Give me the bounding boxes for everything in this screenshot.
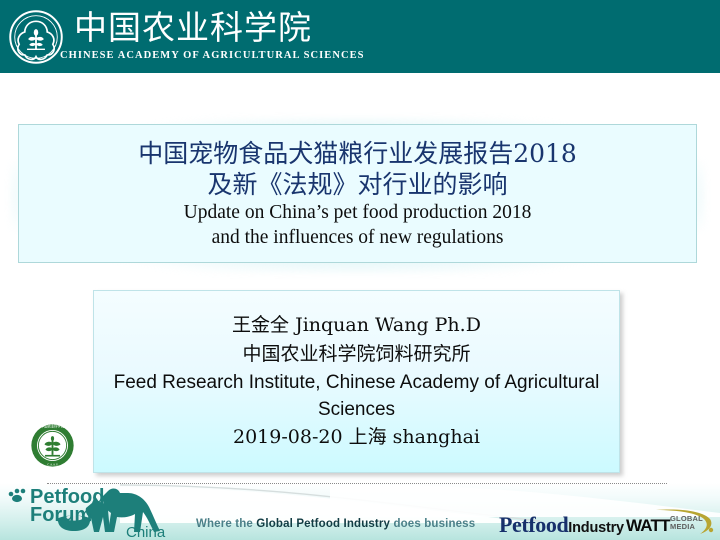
title-en-line-1: Update on China’s pet food production 20… bbox=[184, 200, 532, 225]
caas-seal-icon: 中国农业科学院 C.A.A.S bbox=[29, 422, 76, 469]
title-en-line-2: and the influences of new regulations bbox=[212, 225, 504, 250]
institute-en-line: Feed Research Institute, Chinese Academy… bbox=[108, 369, 605, 423]
date-location-line: 2019-08-20 上海 shanghai bbox=[233, 423, 480, 452]
watt-wordmark: WATT bbox=[626, 516, 670, 536]
header-banner: 中国农业科学院 CHINESE ACADEMY OF AGRICULTURAL … bbox=[0, 0, 720, 73]
title-cn-line-1: 中国宠物食品犬猫粮行业发展报告2018 bbox=[138, 138, 577, 169]
svg-text:C.A.A.S: C.A.A.S bbox=[47, 463, 58, 467]
petfood-industry-logo: PetfoodIndustry bbox=[499, 512, 624, 536]
tagline-prefix: Where the bbox=[196, 518, 256, 530]
caas-seal-icon bbox=[8, 9, 64, 65]
industry-logo-primary: Petfood bbox=[499, 512, 568, 537]
author-panel: 王金全 Jinquan Wang Ph.D 中国农业科学院饲料研究所 Feed … bbox=[93, 290, 620, 473]
petfood-forum-china-logo: Petfood Forum China bbox=[4, 485, 186, 540]
tagline-suffix: does business bbox=[390, 518, 475, 530]
industry-logo-secondary: Industry bbox=[568, 520, 624, 536]
title-panel: 中国宠物食品犬猫粮行业发展报告2018 及新《法规》对行业的影响 Update … bbox=[18, 124, 697, 263]
tagline-strong: Global Petfood Industry bbox=[256, 518, 390, 530]
watt-global-media-logo: WATT GLOBAL MEDIA bbox=[626, 508, 714, 536]
watt-media-text: MEDIA bbox=[670, 523, 695, 532]
org-name-en-text: CHINESE ACADEMY OF AGRICULTURAL SCIENCES bbox=[60, 50, 365, 61]
presenter-name-line: 王金全 Jinquan Wang Ph.D bbox=[232, 311, 481, 340]
forum-logo-line2: Forum bbox=[30, 504, 92, 526]
org-name-cn-text: 中国农业科学院 bbox=[74, 8, 312, 47]
caas-wordmark-chinese: 中国农业科学院 bbox=[74, 6, 324, 48]
title-cn-line-2: 及新《法规》对行业的影响 bbox=[207, 169, 507, 200]
forum-logo-region: China bbox=[126, 524, 166, 540]
institute-cn-line: 中国农业科学院饲料研究所 bbox=[242, 340, 470, 369]
footer-tagline: Where the Global Petfood Industry does b… bbox=[196, 518, 475, 530]
svg-text:中国农业科学院: 中国农业科学院 bbox=[41, 424, 65, 429]
